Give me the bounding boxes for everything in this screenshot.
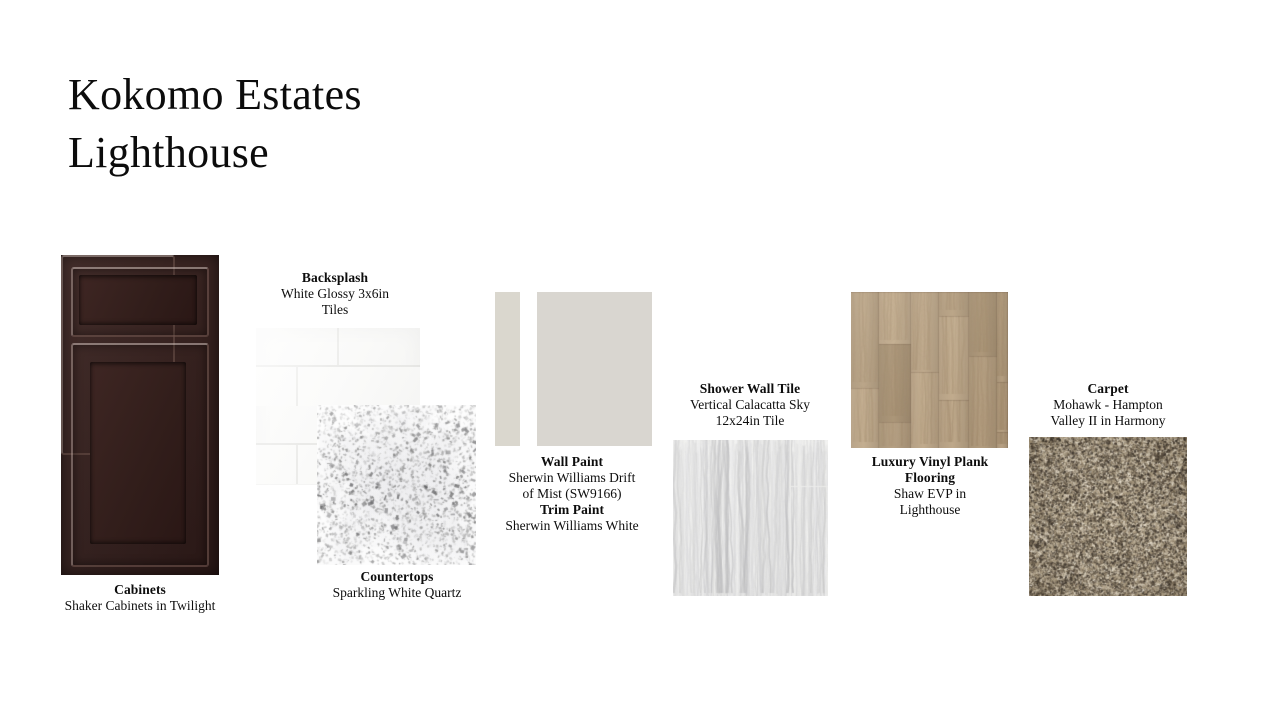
wall-paint-chip: [537, 292, 652, 446]
caption-cabinets: Cabinets Shaker Cabinets in Twilight: [40, 582, 240, 614]
wall-paint-label-title: Wall Paint: [488, 454, 656, 470]
cabinet-drawer-panel: [79, 275, 197, 325]
shower-wall-tile-swatch: [673, 440, 828, 596]
caption-luxury-vinyl-plank: Luxury Vinyl Plank Flooring Shaw EVP in …: [848, 454, 1012, 518]
caption-countertops: Countertops Sparkling White Quartz: [306, 569, 488, 601]
cabinets-label-subtitle: Shaker Cabinets in Twilight: [40, 598, 240, 614]
trim-paint-label-subtitle: Sherwin Williams White: [488, 518, 656, 534]
trim-paint-label-title: Trim Paint: [488, 502, 656, 518]
cabinets-label-title: Cabinets: [40, 582, 240, 598]
caption-paint: Wall Paint Sherwin Williams Drift of Mis…: [488, 454, 656, 534]
caption-carpet: Carpet Mohawk - Hampton Valley II in Har…: [1025, 381, 1191, 429]
countertops-label-subtitle: Sparkling White Quartz: [306, 585, 488, 601]
countertops-label-title: Countertops: [306, 569, 488, 585]
carpet-swatch: [1029, 437, 1187, 596]
countertop-swatch: [317, 405, 476, 565]
marble-texture: [673, 440, 828, 596]
carpet-label-subtitle: Mohawk - Hampton Valley II in Harmony: [1025, 397, 1191, 429]
cabinet-door-swatch: [61, 255, 219, 575]
lvp-label-title: Luxury Vinyl Plank Flooring: [848, 454, 1012, 486]
page-title: Kokomo Estates Lighthouse: [68, 66, 708, 182]
wall-paint-label-subtitle: Sherwin Williams Drift of Mist (SW9166): [488, 470, 656, 502]
carpet-texture: [1029, 437, 1187, 596]
wood-plank-texture: [851, 292, 1008, 448]
shower-tile-label-subtitle: Vertical Calacatta Sky 12x24in Tile: [668, 397, 832, 429]
cabinet-door-panel: [90, 362, 186, 544]
caption-backsplash: Backsplash White Glossy 3x6in Tiles: [244, 270, 426, 318]
backsplash-label-subtitle: White Glossy 3x6in Tiles: [244, 286, 426, 318]
trim-paint-chip: [495, 292, 520, 446]
shower-tile-label-title: Shower Wall Tile: [668, 381, 832, 397]
backsplash-label-title: Backsplash: [244, 270, 426, 286]
quartz-texture: [317, 405, 476, 565]
tile-row: [256, 367, 420, 406]
caption-shower-wall-tile: Shower Wall Tile Vertical Calacatta Sky …: [668, 381, 832, 429]
carpet-label-title: Carpet: [1025, 381, 1191, 397]
lvp-label-subtitle: Shaw EVP in Lighthouse: [848, 486, 1012, 518]
luxury-vinyl-plank-swatch: [851, 292, 1008, 448]
